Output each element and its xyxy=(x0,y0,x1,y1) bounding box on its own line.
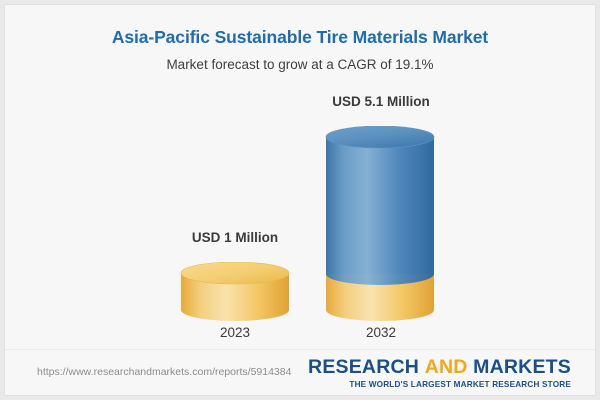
logo-word-research: RESEARCH xyxy=(308,356,419,378)
logo-tagline: THE WORLD'S LARGEST MARKET RESEARCH STOR… xyxy=(308,381,571,389)
infographic-card: Asia-Pacific Sustainable Tire Materials … xyxy=(4,4,596,396)
footer: https://www.researchandmarkets.com/repor… xyxy=(5,349,595,395)
logo-wordmark: RESEARCH AND MARKETS xyxy=(308,358,571,378)
bar-cylinder-2032 xyxy=(321,126,441,322)
chart-plot-area: USD 1 Million xyxy=(5,5,596,346)
bar-group-2023: USD 1 Million xyxy=(176,230,294,346)
logo-word-markets: MARKETS xyxy=(473,356,571,378)
logo-word-and: AND xyxy=(425,356,468,378)
bar-category-label-2032: 2032 xyxy=(321,325,441,340)
bar-group-2032: USD 5.1 Million xyxy=(321,94,441,346)
brand-logo[interactable]: RESEARCH AND MARKETS THE WORLD'S LARGEST… xyxy=(308,358,571,389)
bar-category-label-2023: 2023 xyxy=(176,325,294,340)
bar-value-label-2023: USD 1 Million xyxy=(176,230,294,245)
bar-value-label-2032: USD 5.1 Million xyxy=(321,94,441,109)
report-url[interactable]: https://www.researchandmarkets.com/repor… xyxy=(37,366,291,378)
bar-cylinder-2023 xyxy=(176,262,294,322)
